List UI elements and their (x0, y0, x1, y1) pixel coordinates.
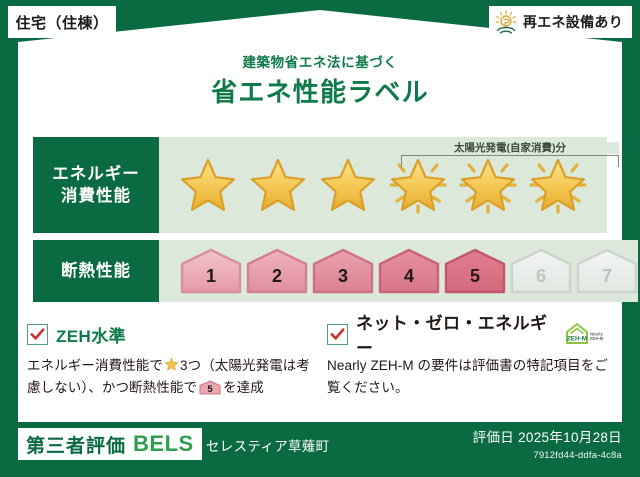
evaluation-id: 7912fd44-ddfa-4c8a (473, 450, 622, 461)
criterion-zeh-suijun: ZEH水準 エネルギー消費性能で3つ（太陽光発電は考慮しない）、かつ断熱性能で5… (27, 322, 317, 399)
bels-jp-label: 第三者評価 (26, 431, 126, 458)
title-main: 省エネ性能ラベル (0, 79, 640, 105)
star-icon (164, 357, 179, 372)
insulation-performance-row: 断熱性能 1234567 (33, 240, 607, 302)
insulation-level-2: 2 (246, 248, 308, 294)
insulation-level-5: 5 (444, 248, 506, 294)
insulation-head-line1: 断熱性能 (61, 260, 131, 282)
star-rating (159, 155, 589, 215)
star-icon-solar (457, 155, 519, 215)
insulation-level-value: 2 (272, 267, 282, 294)
criterion-zeh-title: ZEH水準 (56, 322, 126, 347)
star-icon (317, 155, 379, 215)
bels-en-label: BELS (133, 431, 194, 457)
insulation-performance-head: 断熱性能 (33, 240, 159, 302)
star-icon (177, 155, 239, 215)
energy-performance-head: エネルギー 消費性能 (33, 137, 159, 233)
insulation-level-value: 1 (206, 267, 216, 294)
insulation-level-scale: 1234567 (159, 248, 638, 294)
label-title: 建築物省エネ法に基づく 省エネ性能ラベル (0, 56, 640, 105)
evaluation-info: 評価日 2025年10月28日 7912fd44-ddfa-4c8a (473, 426, 622, 461)
property-name: セレスティア草薙町 (206, 435, 329, 455)
checkbox-checked-icon (27, 324, 48, 345)
zeh-m-logo-icon: ZEH-M Nearly ZEH-M (564, 321, 612, 347)
insulation-level-value: 4 (404, 267, 414, 294)
criterion-zeh-text-3: を達成 (223, 380, 264, 395)
evaluation-date: 評価日 2025年10月28日 (473, 426, 622, 446)
star-icon-solar (387, 155, 449, 215)
svg-text:ZEH-M: ZEH-M (567, 336, 587, 343)
insulation-level-7: 7 (576, 248, 638, 294)
insulation-level-1: 1 (180, 248, 242, 294)
energy-performance-label: 住宅（住棟） 再エネ設備あり 建築物省エネ法に基づく 省エネ性能ラベル (0, 0, 640, 477)
building-type-badge: 住宅（住棟） (8, 6, 116, 38)
checkbox-checked-icon (327, 324, 348, 345)
energy-performance-body: 太陽光発電(自家消費)分 (159, 137, 607, 233)
insulation-level-4: 4 (378, 248, 440, 294)
bels-badge: 第三者評価 BELS (18, 428, 202, 460)
renewable-energy-badge: 再エネ設備あり (489, 6, 632, 38)
star-icon (247, 155, 309, 215)
criterion-nze-body: Nearly ZEH-M の要件は評価書の特記項目をご覧ください。 (327, 355, 612, 399)
building-type-label: 住宅（住棟） (15, 12, 108, 33)
energy-performance-row: エネルギー 消費性能 太陽光発電(自家消費)分 (33, 137, 607, 233)
insulation-level-6: 6 (510, 248, 572, 294)
insulation-badge-inline: 5 (199, 380, 221, 395)
insulation-level-value: 7 (602, 267, 612, 294)
star-icon-solar (527, 155, 589, 215)
insulation-level-3: 3 (312, 248, 374, 294)
criterion-nze-title: ネット・ゼロ・エネルギー (356, 309, 554, 359)
svg-text:ZEH-M: ZEH-M (590, 336, 604, 341)
energy-head-line2: 消費性能 (61, 185, 131, 207)
criterion-net-zero-energy: ネット・ゼロ・エネルギー ZEH-M Nearly ZEH-M Nearly Z… (327, 322, 612, 399)
insulation-level-value: 3 (338, 267, 348, 294)
renewable-energy-label: 再エネ設備あり (523, 12, 623, 32)
solar-sun-icon (493, 9, 519, 35)
criterion-zeh-text-1: エネルギー消費性能で (27, 358, 163, 373)
insulation-performance-body: 1234567 (159, 240, 638, 302)
insulation-level-value: 6 (536, 267, 546, 294)
criterion-zeh-body: エネルギー消費性能で3つ（太陽光発電は考慮しない）、かつ断熱性能で5を達成 (27, 355, 317, 399)
title-subtitle: 建築物省エネ法に基づく (0, 56, 640, 70)
criterion-nze-header: ネット・ゼロ・エネルギー ZEH-M Nearly ZEH-M (327, 322, 612, 346)
insulation-level-value: 5 (470, 267, 480, 294)
energy-head-line1: エネルギー (52, 163, 140, 185)
insulation-badge-inline-value: 5 (199, 385, 221, 395)
criterion-zeh-header: ZEH水準 (27, 322, 317, 346)
label-footer: 第三者評価 BELS セレスティア草薙町 評価日 2025年10月28日 791… (0, 422, 640, 477)
solar-bracket-label: 太陽光発電(自家消費)分 (401, 142, 619, 154)
